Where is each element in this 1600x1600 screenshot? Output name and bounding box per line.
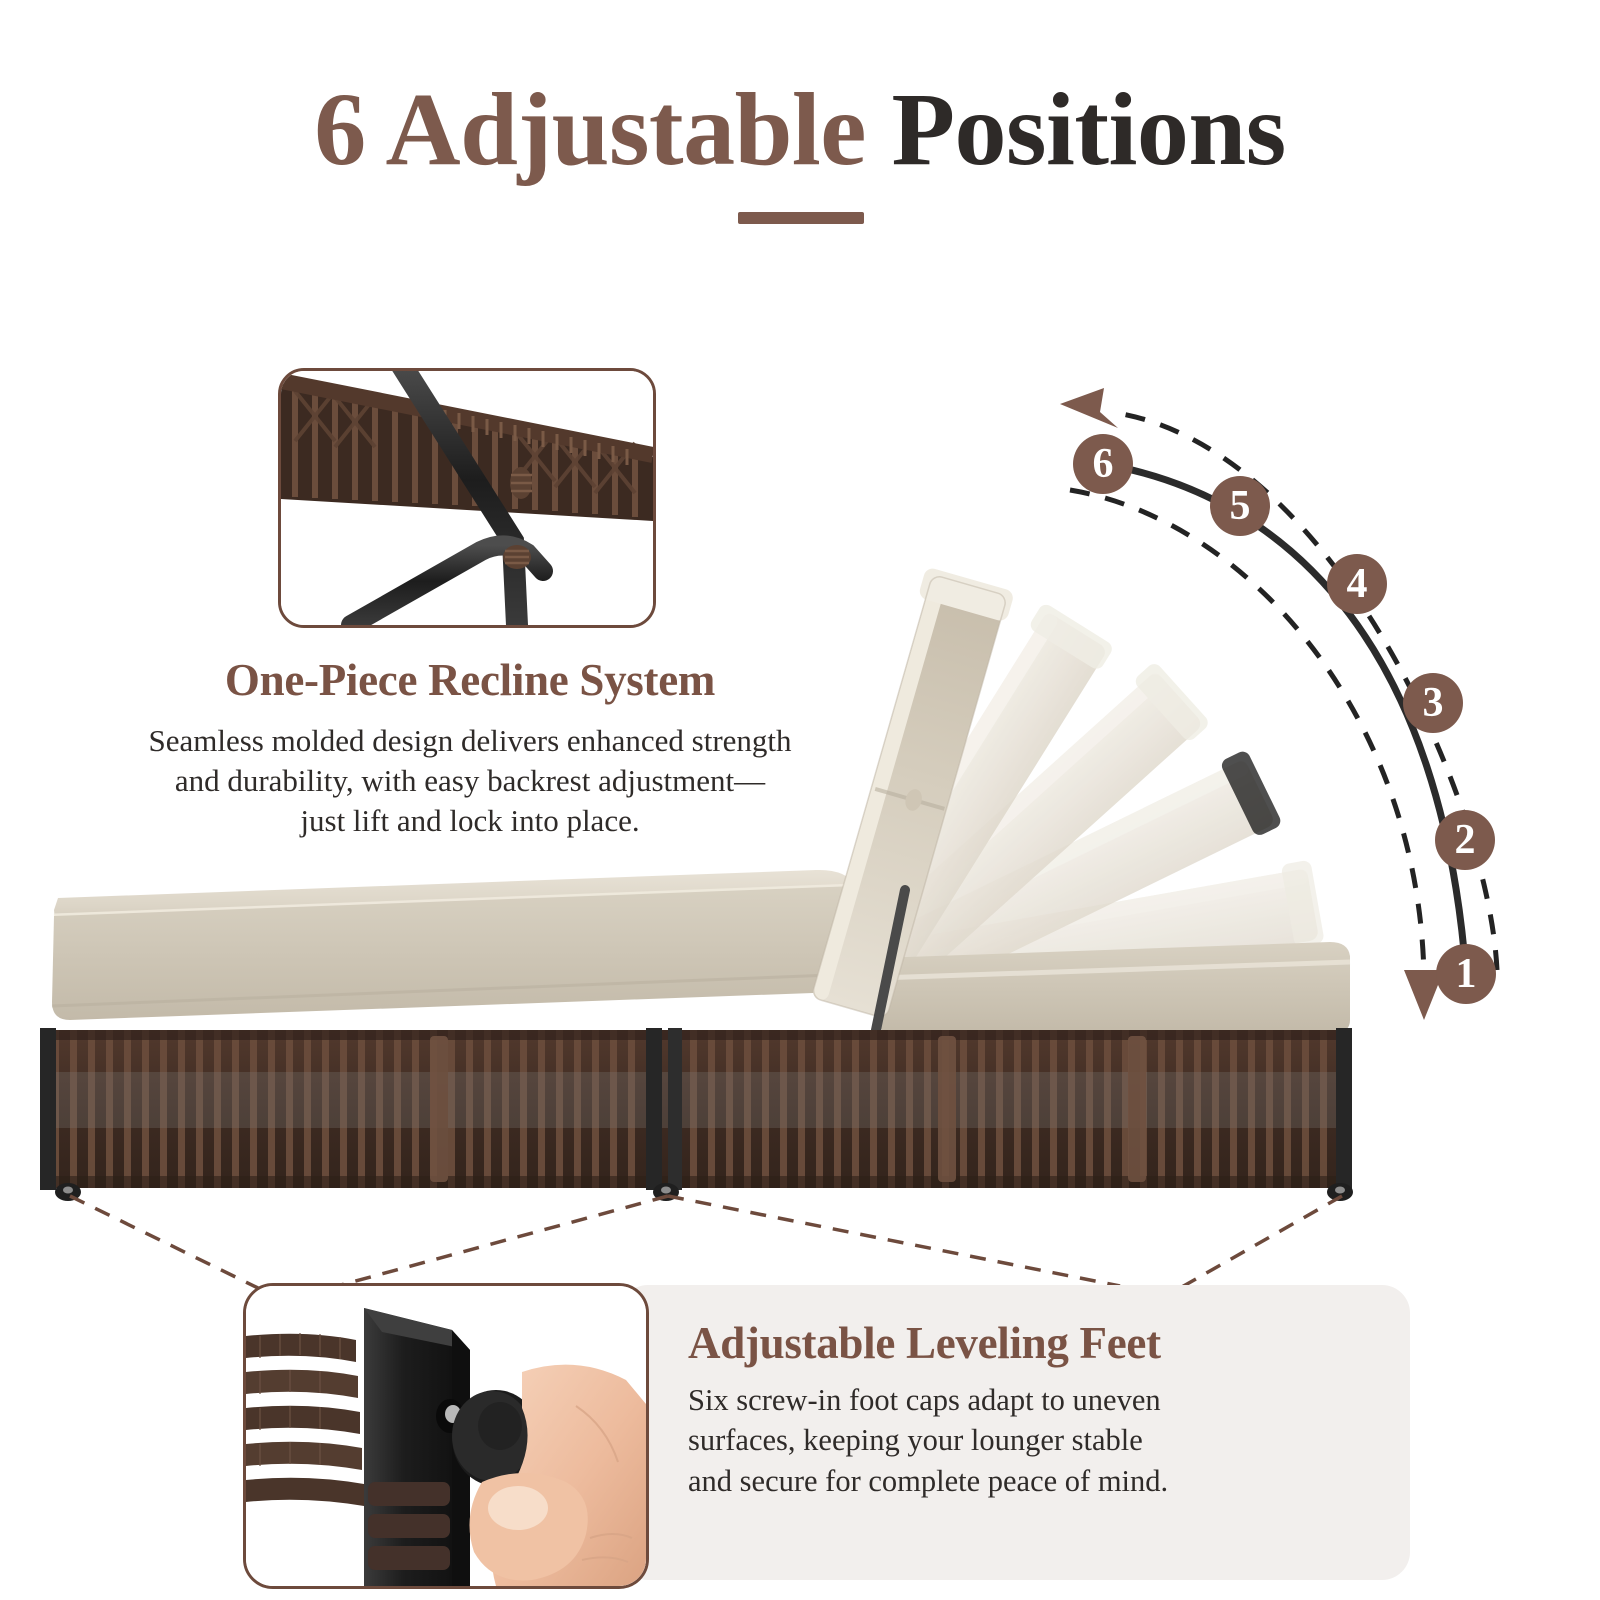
recline-body-line-1: Seamless molded design delivers enhanced… — [60, 721, 880, 761]
position-marker-2-label: 2 — [1455, 817, 1476, 863]
position-marker-5: 5 — [1210, 476, 1270, 536]
position-marker-4: 4 — [1327, 554, 1387, 614]
infographic-canvas: 6 Adjustable Positions — [0, 0, 1600, 1600]
feet-feature-text: Adjustable Leveling Feet Six screw-in fo… — [688, 1318, 1288, 1501]
recline-body-line-2: and durability, with easy backrest adjus… — [60, 761, 880, 801]
recline-inset-photo — [278, 368, 656, 628]
feet-feature-body: Six screw-in foot caps adapt to uneven s… — [688, 1380, 1288, 1502]
recline-feature-text: One-Piece Recline System Seamless molded… — [60, 655, 880, 842]
feet-inset-photo — [243, 1283, 649, 1589]
position-marker-1-label: 1 — [1456, 951, 1477, 997]
recline-feature-title: One-Piece Recline System — [60, 655, 880, 707]
position-marker-2: 2 — [1435, 810, 1495, 870]
position-marker-5-label: 5 — [1230, 483, 1251, 529]
position-marker-6-label: 6 — [1093, 441, 1114, 487]
feet-body-line-3: and secure for complete peace of mind. — [688, 1461, 1288, 1502]
feet-feature-title: Adjustable Leveling Feet — [688, 1318, 1288, 1370]
feet-body-line-1: Six screw-in foot caps adapt to uneven — [688, 1380, 1288, 1421]
position-marker-3-label: 3 — [1423, 680, 1444, 726]
position-marker-4-label: 4 — [1347, 561, 1368, 607]
recline-feature-body: Seamless molded design delivers enhanced… — [60, 721, 880, 842]
position-marker-6: 6 — [1073, 434, 1133, 494]
feet-body-line-2: surfaces, keeping your lounger stable — [688, 1420, 1288, 1461]
thumbnail — [488, 1486, 548, 1530]
recline-body-line-3: just lift and lock into place. — [60, 801, 880, 841]
position-marker-3: 3 — [1403, 673, 1463, 733]
position-marker-1: 1 — [1436, 944, 1496, 1004]
